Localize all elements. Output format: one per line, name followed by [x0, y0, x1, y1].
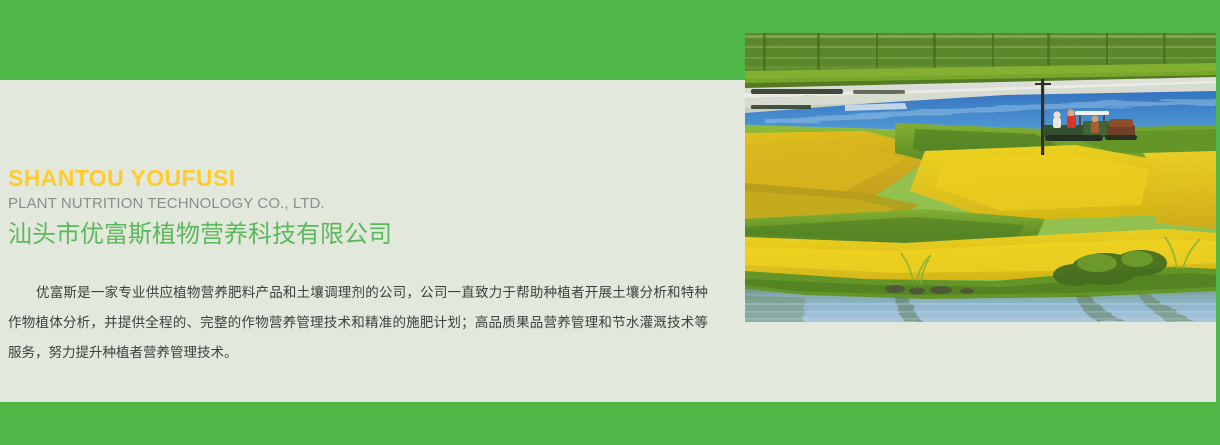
- company-intro-paragraph: 优富斯是一家专业供应植物营养肥料产品和土壤调理剂的公司，公司一直致力于帮助种植者…: [8, 278, 708, 368]
- right-green-edge: [1216, 0, 1220, 445]
- company-name-en: SHANTOU YOUFUSI: [8, 165, 718, 192]
- brand-block: SHANTOU YOUFUSI PLANT NUTRITION TECHNOLO…: [8, 165, 718, 250]
- page-root: SHANTOU YOUFUSI PLANT NUTRITION TECHNOLO…: [0, 0, 1220, 445]
- farmland-illustration: [745, 33, 1216, 322]
- farmland-photo: [745, 33, 1216, 322]
- company-subtitle-en: PLANT NUTRITION TECHNOLOGY CO., LTD.: [8, 194, 718, 214]
- company-name-cn: 汕头市优富斯植物营养科技有限公司: [8, 218, 718, 250]
- bottom-green-band: [0, 402, 1220, 445]
